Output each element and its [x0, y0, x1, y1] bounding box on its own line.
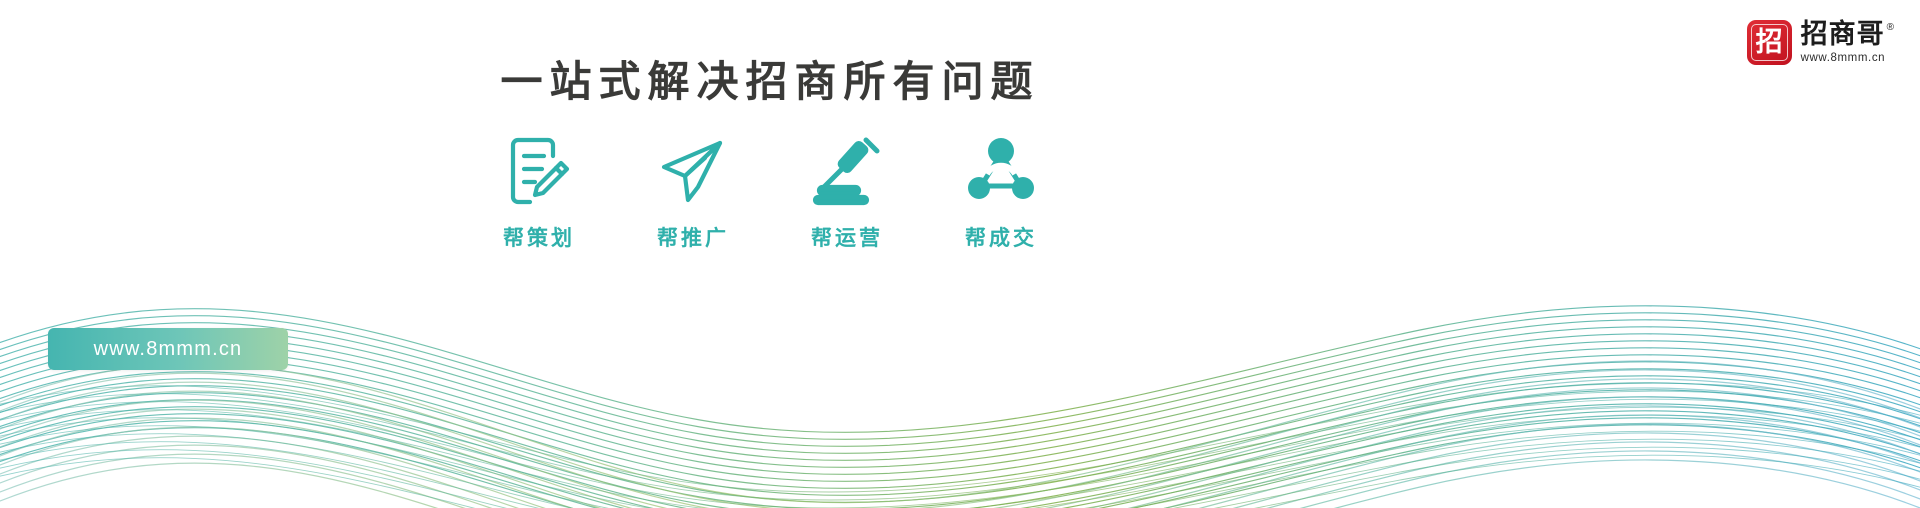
feature-label: 帮成交 [965, 222, 1037, 252]
logo-url: www.8mmm.cn [1801, 52, 1894, 64]
feature-label: 帮策划 [503, 222, 575, 252]
people-network-icon [965, 132, 1037, 210]
logo-brand-name: 招商哥 [1801, 21, 1885, 49]
feature-item-deal[interactable]: 帮成交 [942, 132, 1060, 252]
registered-trademark-icon: ® [1887, 23, 1894, 33]
paper-plane-icon [657, 132, 729, 210]
logo-text-block: 招商哥 ® www.8mmm.cn [1801, 20, 1894, 64]
logo-mark-char: 招 [1756, 29, 1783, 56]
feature-label: 帮运营 [811, 222, 883, 252]
feature-item-promotion[interactable]: 帮推广 [634, 132, 752, 252]
feature-item-planning[interactable]: 帮策划 [480, 132, 598, 252]
document-pencil-icon [503, 132, 575, 210]
promo-banner: 招 招商哥 ® www.8mmm.cn 一站式解决招商所有问题 [0, 0, 1920, 508]
feature-label: 帮推广 [657, 222, 729, 252]
website-url-text: www.8mmm.cn [94, 338, 243, 361]
feature-list: 帮策划 帮推广 帮运营 [480, 132, 1060, 252]
website-url-badge[interactable]: www.8mmm.cn [48, 328, 288, 370]
page-title: 一站式解决招商所有问题 [0, 57, 1540, 107]
logo-mark-icon: 招 [1747, 20, 1792, 65]
gavel-icon [811, 132, 883, 210]
logo-name-row: 招商哥 ® [1801, 21, 1894, 49]
feature-item-operation[interactable]: 帮运营 [788, 132, 906, 252]
site-logo[interactable]: 招 招商哥 ® www.8mmm.cn [1747, 20, 1894, 65]
